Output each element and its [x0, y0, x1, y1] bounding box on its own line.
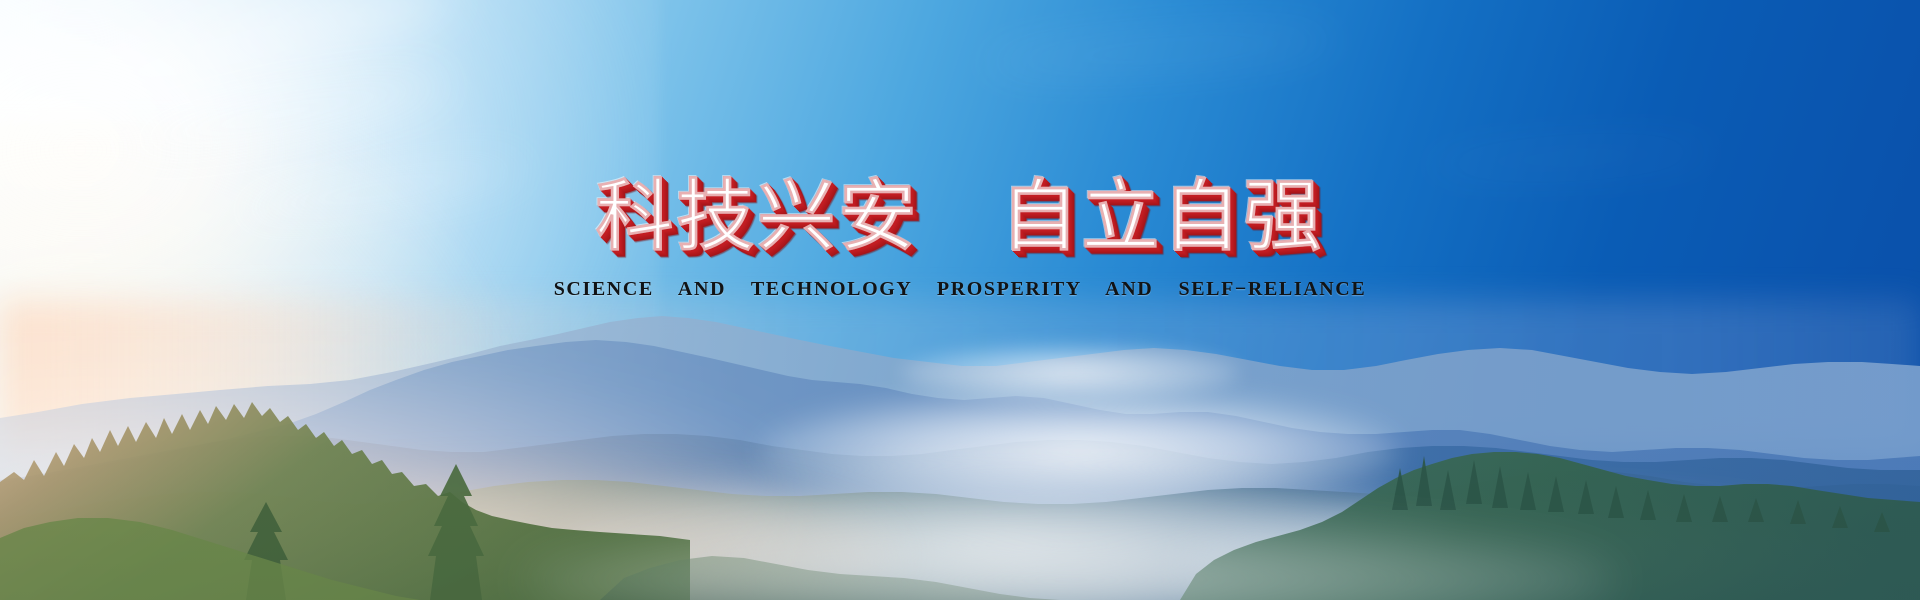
banner-main-title: 科技兴安 自立自强 [595, 178, 1324, 256]
banner-sub-title: SCIENCE AND TECHNOLOGY PROSPERITY AND SE… [0, 278, 1920, 301]
foreground-foliage [0, 360, 1920, 600]
hero-banner: 科技兴安 自立自强 SCIENCE AND TECHNOLOGY PROSPER… [0, 0, 1920, 600]
banner-text-block: 科技兴安 自立自强 SCIENCE AND TECHNOLOGY PROSPER… [0, 178, 1920, 301]
